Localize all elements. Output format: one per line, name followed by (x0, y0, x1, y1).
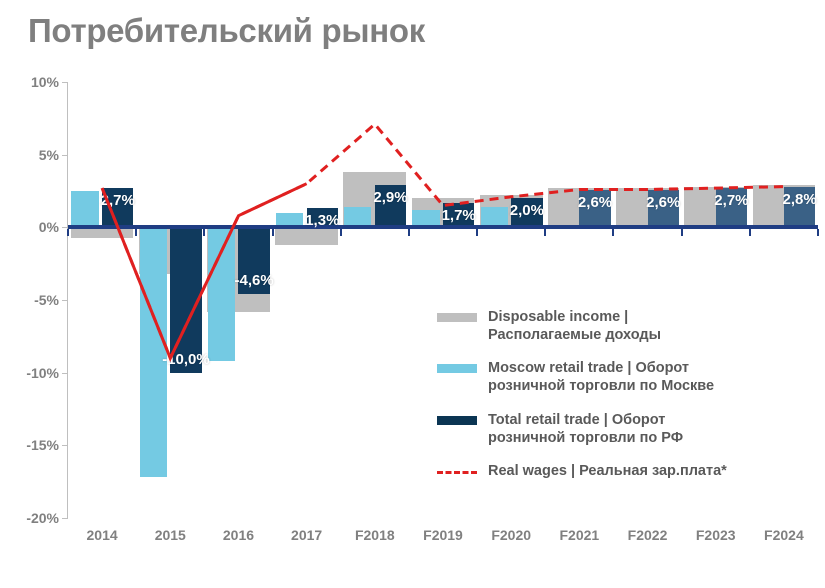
x-axis-tick-label: F2021 (560, 527, 600, 543)
y-axis-tick-label: -10% (26, 365, 59, 381)
y-axis-tick-label: -20% (26, 510, 59, 526)
x-axis-tick (681, 229, 683, 236)
x-axis-tick-label: F2024 (764, 527, 804, 543)
legend-item-label: Real wages | Реальная зар.плата* (488, 462, 727, 480)
x-axis-tick (203, 229, 205, 236)
y-axis-tick (62, 518, 68, 519)
bar-value-label: 2,9% (373, 189, 407, 206)
legend-swatch-icon (437, 364, 477, 373)
y-axis-tick-label: -15% (26, 437, 59, 453)
x-axis-tick-label: F2019 (423, 527, 463, 543)
x-axis-tick-label: 2014 (87, 527, 118, 543)
bar-value-label: 1,7% (442, 207, 476, 224)
x-axis-tick (749, 229, 751, 236)
legend-swatch-icon (437, 416, 477, 425)
x-axis-tick (272, 229, 274, 236)
x-axis-tick-label: 2016 (223, 527, 254, 543)
y-axis-tick-label: 10% (31, 74, 59, 90)
x-axis-tick (544, 229, 546, 236)
bar (344, 207, 371, 227)
x-axis-tick (340, 229, 342, 236)
y-axis-tick-label: 0% (39, 219, 59, 235)
x-axis-tick (67, 229, 69, 236)
legend-item-label: Moscow retail trade | Оборотрозничной то… (488, 359, 714, 395)
legend-item[interactable]: Total retail trade | Оборотрозничной тор… (437, 411, 797, 447)
legend-item[interactable]: Moscow retail trade | Оборотрозничной то… (437, 359, 797, 395)
bar-value-label: -10,0% (162, 351, 210, 368)
x-axis-tick (817, 229, 819, 236)
legend-swatch-icon (437, 471, 477, 474)
bar-value-label: 2,7% (714, 192, 748, 209)
zero-baseline (68, 225, 818, 229)
x-axis-tick-label: F2018 (355, 527, 395, 543)
bar (71, 191, 98, 227)
bar-value-label: 2,6% (646, 194, 680, 211)
bar-value-label: 2,6% (578, 194, 612, 211)
bar (275, 227, 338, 244)
x-axis-tick-label: F2022 (628, 527, 668, 543)
legend-swatch-icon (437, 313, 477, 322)
bar (208, 227, 235, 361)
legend-item[interactable]: Real wages | Реальная зар.плата* (437, 462, 797, 480)
x-axis-tick-label: F2020 (491, 527, 531, 543)
x-axis-tick-label: 2015 (155, 527, 186, 543)
bar-value-label: 2,7% (101, 192, 135, 209)
legend-item-label: Disposable income |Располагаемые доходы (488, 308, 661, 344)
page-title: Потребительский рынок (28, 12, 425, 50)
x-axis-tick (408, 229, 410, 236)
bar-value-label: -4,6% (235, 272, 274, 289)
chart-legend: Disposable income |Располагаемые доходыM… (437, 308, 797, 495)
bar (481, 207, 508, 227)
y-axis-tick-label: -5% (34, 292, 59, 308)
bar-value-label: 2,8% (782, 191, 816, 208)
legend-item-label: Total retail trade | Оборотрозничной тор… (488, 411, 683, 447)
legend-item[interactable]: Disposable income |Располагаемые доходы (437, 308, 797, 344)
bar-value-label: 2,0% (510, 202, 544, 219)
x-axis-tick-label: F2023 (696, 527, 736, 543)
x-axis-tick (135, 229, 137, 236)
bar-value-label: 1,3% (305, 212, 339, 229)
x-axis-tick (476, 229, 478, 236)
x-axis-tick-label: 2017 (291, 527, 322, 543)
y-axis-tick-label: 5% (39, 147, 59, 163)
x-axis-tick (612, 229, 614, 236)
